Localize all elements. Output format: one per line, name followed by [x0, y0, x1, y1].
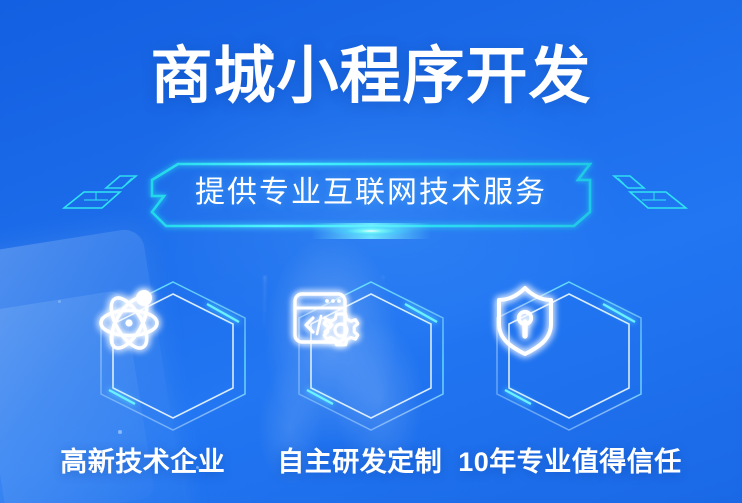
right-decoration [604, 170, 688, 221]
subtitle-banner: 提供专业互联网技术服务 [148, 162, 594, 226]
feature-hexagon-1[interactable] [87, 278, 259, 434]
left-decoration [62, 170, 146, 221]
feature-label-1: 高新技术企业 [60, 440, 225, 479]
subtitle-banner-wrap: 提供专业互联网技术服务 [0, 162, 742, 242]
feature-hexagon-3[interactable] [483, 278, 655, 434]
feature-label-2: 自主研发定制 [277, 440, 442, 479]
code-window-gear-icon [285, 278, 457, 434]
feature-label-row: 高新技术企业 自主研发定制 10年专业值得信任 [0, 440, 742, 479]
subtitle-text: 提供专业互联网技术服务 [148, 173, 594, 213]
feature-label-3: 10年专业值得信任 [458, 440, 682, 479]
promo-banner-stage: 商城小程序开发 [0, 0, 742, 503]
feature-hexagon-2[interactable] [285, 278, 457, 434]
atom-icon [87, 278, 259, 434]
page-title: 商城小程序开发 [0, 46, 742, 108]
shield-lock-icon [483, 278, 655, 434]
feature-hexagon-row [0, 278, 742, 438]
